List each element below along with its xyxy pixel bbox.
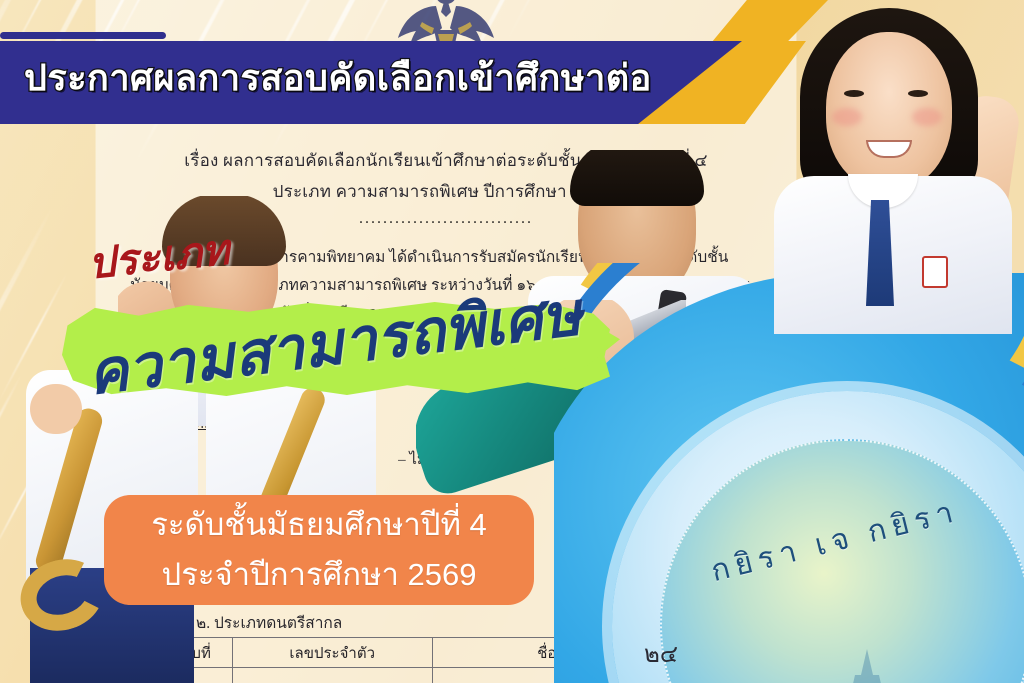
table-cell-id: [232, 668, 432, 683]
grade-level-line2: ประจำปีการศึกษา 2569: [162, 550, 477, 600]
stupa-icon: [824, 649, 910, 683]
page-title: ประกาศผลการสอบคัดเลือกเข้าศึกษาต่อ: [24, 49, 652, 106]
grade-level-line1: ระดับชั้นมัธยมศึกษาปีที่ 4: [151, 500, 487, 550]
eye-right-shape: [908, 90, 928, 97]
grade-level-banner: ระดับชั้นมัธยมศึกษาปีที่ 4 ประจำปีการศึก…: [104, 495, 534, 605]
cheek-left-shape: [832, 108, 862, 126]
hand-shape: [30, 384, 82, 434]
table-header-id: เลขประจำตัว: [232, 638, 432, 668]
school-badge-icon: [922, 256, 948, 288]
photo-girl-portrait-right: [756, 4, 1024, 334]
seal-page-number: ๒๔: [644, 634, 678, 673]
cheek-right-shape: [912, 108, 942, 126]
banner-top-rule: [0, 32, 166, 39]
poster-stage: เรื่อง ผลการสอบคัดเลือกนักเรียนเข้าศึกษา…: [0, 0, 1024, 683]
eye-left-shape: [844, 90, 864, 97]
hair-shape: [570, 150, 704, 206]
